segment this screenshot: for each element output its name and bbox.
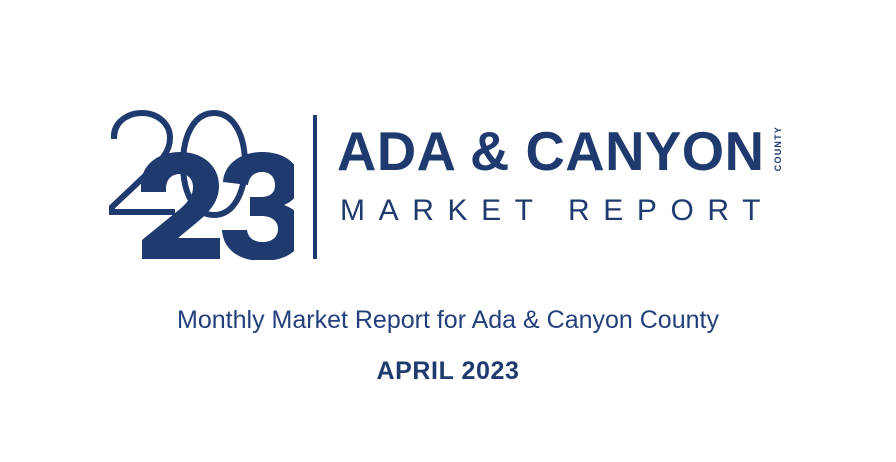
report-cover-page: ADA & CANYON COUNTY MARKET REPORT Monthl… bbox=[0, 0, 896, 462]
year-solid-23-icon bbox=[141, 152, 294, 260]
year-2023-icon bbox=[104, 108, 294, 260]
brand-logo-lockup: ADA & CANYON COUNTY MARKET REPORT bbox=[104, 108, 804, 263]
report-description: Monthly Market Report for Ada & Canyon C… bbox=[0, 306, 896, 335]
report-period: APRIL 2023 bbox=[0, 357, 896, 386]
logo-subtitle: MARKET REPORT bbox=[340, 194, 774, 228]
logo-county-tag: COUNTY bbox=[774, 126, 783, 171]
logo-title: ADA & CANYON bbox=[337, 124, 764, 179]
logo-divider-rule bbox=[313, 115, 317, 259]
year-mark-2023 bbox=[104, 108, 294, 260]
logo-title-row: ADA & CANYON COUNTY bbox=[337, 124, 783, 179]
caption-block: Monthly Market Report for Ada & Canyon C… bbox=[0, 306, 896, 386]
logo-text-block: ADA & CANYON COUNTY MARKET REPORT bbox=[337, 108, 807, 260]
